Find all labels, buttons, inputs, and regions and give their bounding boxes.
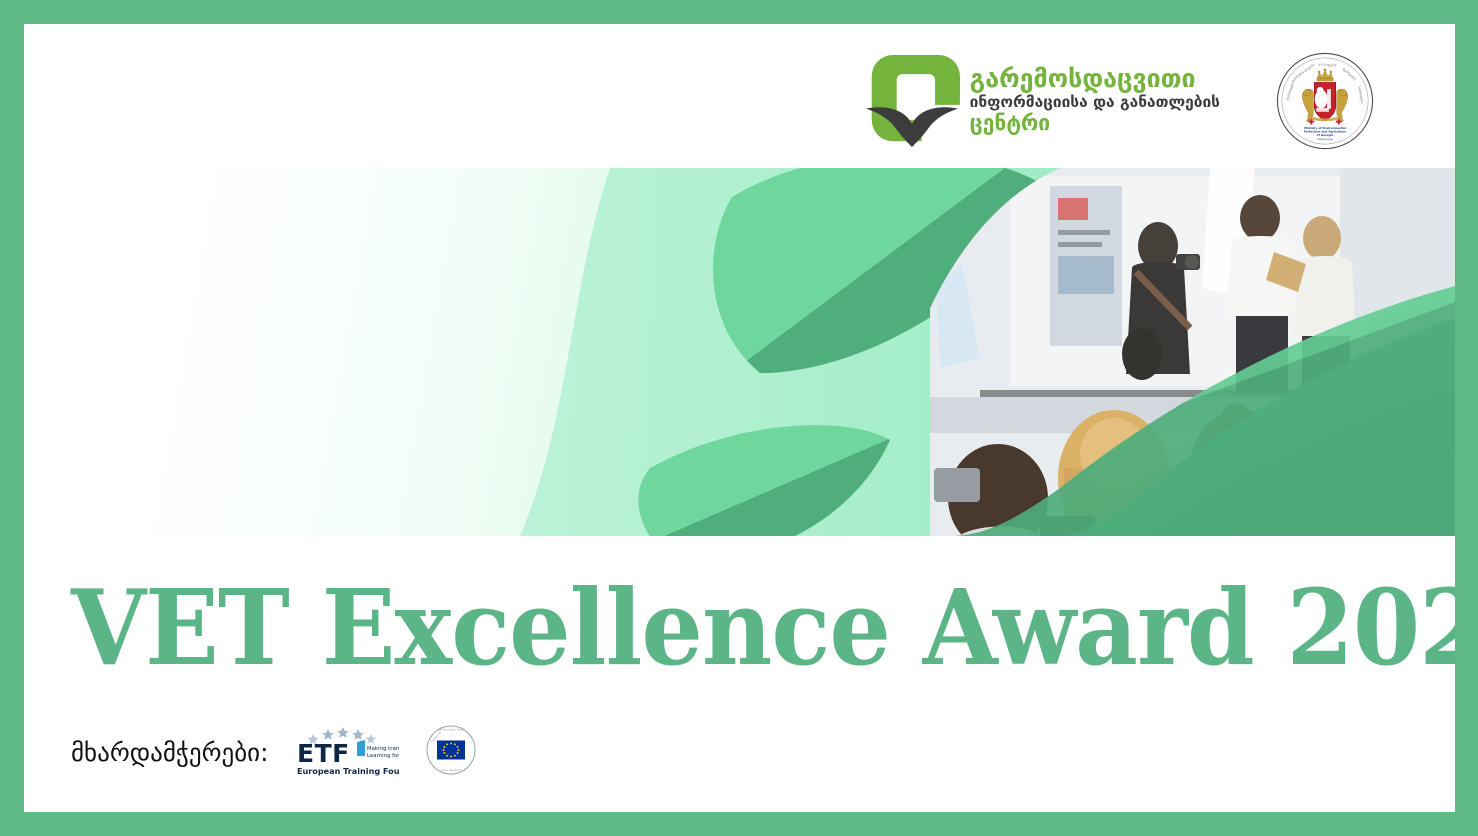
- org-logo: გარემოსდაცვითი ინფორმაციისა და განათლები…: [864, 55, 1220, 147]
- svg-text:European Training Foundation: European Training Foundation: [297, 766, 399, 776]
- svg-text:Making transition: Making transition: [367, 746, 399, 752]
- supporters-label: მხარდამჭერები:: [71, 738, 269, 767]
- european-union-emblem-icon: Funded by the European Union European Un…: [425, 724, 477, 780]
- svg-text:the European Union: the European Union: [437, 728, 464, 732]
- hero-banner: [50, 168, 1455, 536]
- header-bar: გარემოსდაცვითი ინფორმაციისა და განათლები…: [24, 24, 1455, 168]
- hero-decorative-graphics: [50, 168, 1455, 536]
- etf-logo: ETF Making transition Learning for life …: [295, 722, 399, 782]
- svg-text:ETF: ETF: [297, 739, 350, 768]
- org-logo-text: გარემოსდაცვითი ინფორმაციისა და განათლები…: [970, 66, 1220, 137]
- org-logo-line-2: ინფორმაციისა და განათლების: [970, 95, 1220, 111]
- svg-text:European Union: European Union: [440, 769, 462, 773]
- page-title: VET Excellence Award 2022: [71, 576, 1455, 680]
- svg-text:of Georgia: of Georgia: [1317, 133, 1334, 137]
- open-book-leaf-icon: [864, 55, 960, 147]
- org-logo-line-1: გარემოსდაცვითი: [970, 64, 1196, 93]
- supporters-row: მხარდამჭერები: ETF Making transi: [71, 722, 477, 782]
- header-logo-row: გარემოსდაცვითი ინფორმაციისა და განათლები…: [864, 52, 1374, 150]
- title-section: VET Excellence Award 2022 მხარდამჭერები:: [24, 536, 1455, 812]
- ministry-seal-icon: საქართველოს გარემოს დაცვისა და სოფლის მე…: [1276, 52, 1374, 150]
- poster-frame: გარემოსდაცვითი ინფორმაციისა და განათლები…: [0, 0, 1478, 836]
- svg-text:mepa.gov.ge: mepa.gov.ge: [1317, 138, 1333, 141]
- org-logo-line-3: ცენტრი: [970, 113, 1220, 134]
- poster-canvas: გარემოსდაცვითი ინფორმაციისა და განათლები…: [24, 24, 1455, 812]
- svg-text:Learning for life: Learning for life: [367, 753, 399, 759]
